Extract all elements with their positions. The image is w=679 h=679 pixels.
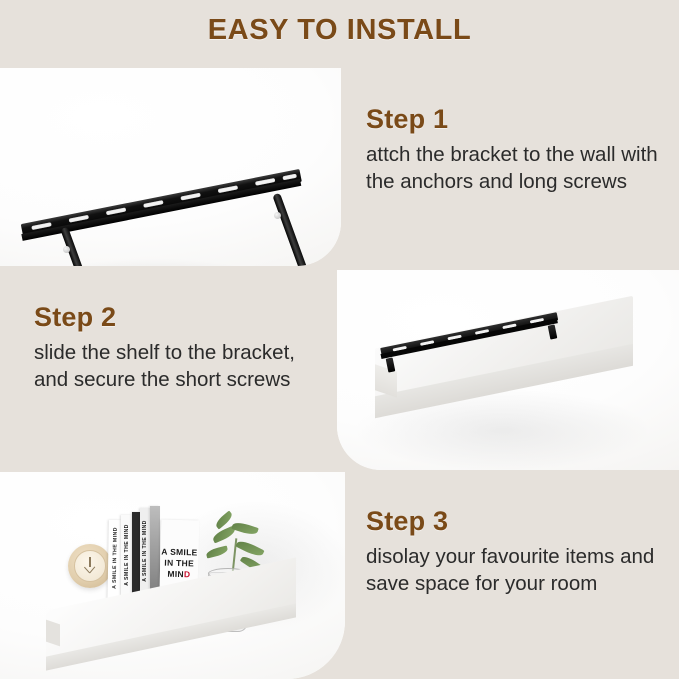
clock-hand-hour (89, 557, 90, 567)
step-3-text: Step 3 disolay your favourite items and … (366, 506, 671, 598)
book-title-line-2: IN THE (160, 557, 198, 569)
wooden-clock (68, 544, 112, 588)
clock-hand-second (84, 566, 90, 573)
page-title: EASY TO INSTALL (0, 14, 679, 47)
step-1-body: attch the bracket to the wall with the a… (366, 141, 666, 196)
clock-face (74, 550, 106, 582)
heart-icon: D (184, 570, 191, 580)
step-2-heading: Step 2 (34, 302, 334, 333)
book-spine-2-text: A SMILE IN THE MIND (124, 524, 130, 586)
bracket-shadow (30, 258, 280, 266)
infographic-page: EASY TO INSTALL (0, 0, 679, 679)
book-front-title: A SMILE IN THE MIND (160, 546, 199, 581)
step-1-text: Step 1 attch the bracket to the wall wit… (366, 104, 666, 196)
book-title-line-1: A SMILE (160, 546, 198, 558)
step-1-image-panel (0, 68, 341, 266)
styled-shelf-illustration: A SMILE IN THE MIND A SMILE IN THE MIND … (0, 472, 345, 679)
step-2-image-panel (337, 270, 679, 470)
step-2-body: slide the shelf to the bracket, and secu… (34, 339, 334, 394)
step-3-image-panel: A SMILE IN THE MIND A SMILE IN THE MIND … (0, 472, 345, 679)
book-spine-4-text: A SMILE IN THE MIND (142, 520, 148, 582)
book-spine-1-text: A SMILE IN THE MIND (111, 527, 118, 589)
step-3-body: disolay your favourite items and save sp… (366, 543, 671, 598)
bracket-screw-left (63, 246, 70, 253)
bracket-illustration (0, 68, 341, 266)
clock-hand-minute (90, 566, 96, 573)
shelf-with-bracket-illustration (337, 270, 679, 470)
bracket-rod-right (272, 193, 309, 266)
step-3-heading: Step 3 (366, 506, 671, 537)
step-1-heading: Step 1 (366, 104, 666, 135)
bracket-screw-right (274, 212, 281, 219)
styled-shelf-side (46, 620, 60, 647)
step-2-text: Step 2 slide the shelf to the bracket, a… (34, 302, 334, 394)
